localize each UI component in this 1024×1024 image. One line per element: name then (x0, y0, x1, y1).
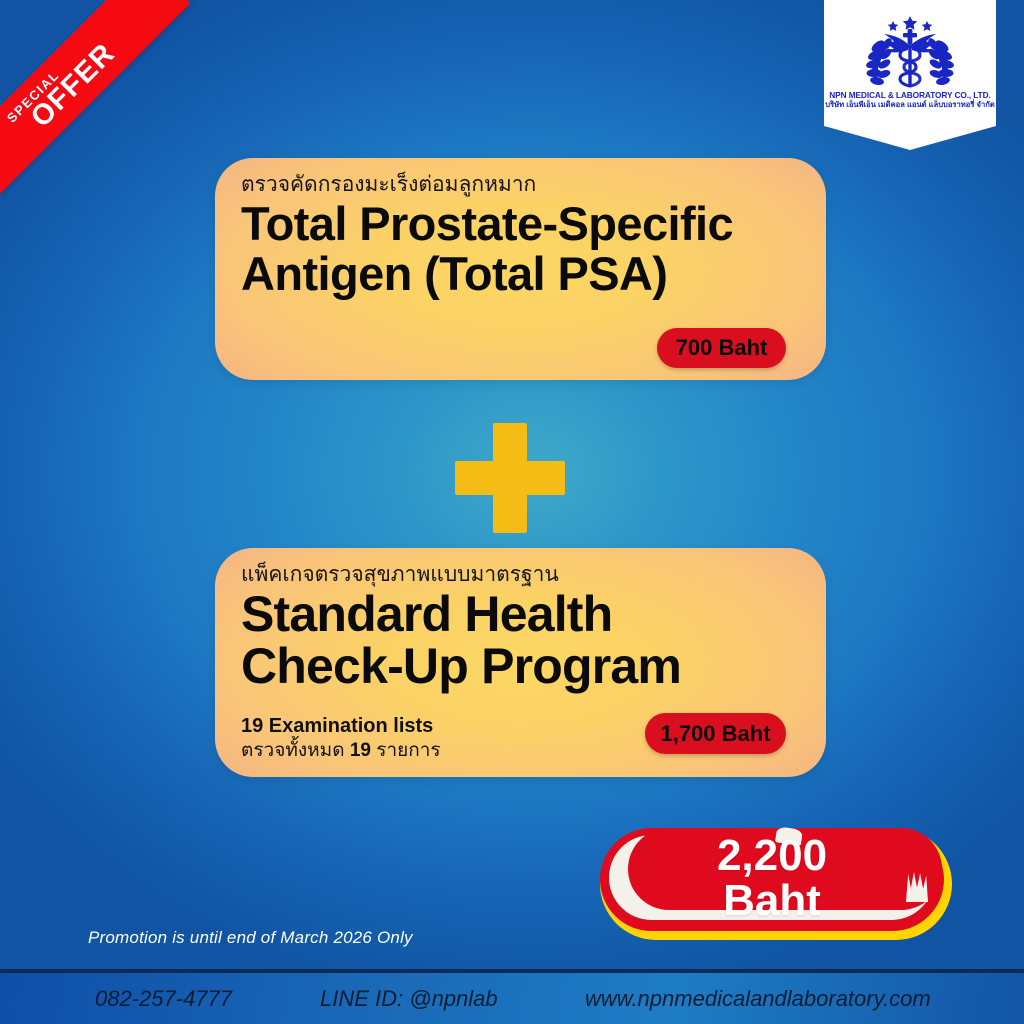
card-title-line1: Standard Health (241, 590, 800, 640)
footer-website[interactable]: www.npnmedicalandlaboratory.com (585, 986, 931, 1012)
promotion-validity-note: Promotion is until end of March 2026 Onl… (88, 928, 413, 948)
exam-count-th-prefix: ตรวจทั้งหมด (241, 740, 350, 761)
footer-line-id[interactable]: LINE ID: @npnlab (320, 986, 498, 1012)
footer-phone[interactable]: 082-257-4777 (95, 986, 232, 1012)
contact-footer: 082-257-4777 LINE ID: @npnlab www.npnmed… (0, 973, 1024, 1024)
logo-company-name-th: บริษัท เอ็นพีเอ็น เมดิคอล แอนด์ แล็บบอรา… (825, 101, 995, 110)
card-title-line2: Check-Up Program (241, 642, 800, 692)
total-price-text: 2,200 Baht (600, 834, 944, 924)
price-badge-psa: 700 Baht (657, 328, 786, 368)
exam-count-en: 19 Examination lists (241, 714, 441, 739)
total-price-currency: Baht (600, 879, 944, 924)
offer-card-health-checkup: แพ็คเกจตรวจสุขภาพแบบมาตรฐาน Standard Hea… (215, 548, 826, 777)
promotion-poster: SPECIAL OFFER (0, 0, 1024, 1024)
exam-count-th-suffix: รายการ (371, 740, 441, 761)
logo-company-name-en: NPN MEDICAL & LABORATORY CO., LTD. (829, 91, 990, 100)
offer-card-psa: ตรวจคัดกรองมะเร็งต่อมลูกหมาก Total Prost… (215, 158, 826, 380)
total-price-amount: 2,200 (600, 834, 944, 879)
company-logo-banner: NPN MEDICAL & LABORATORY CO., LTD. บริษั… (824, 0, 996, 150)
exam-count-block: 19 Examination lists ตรวจทั้งหมด 19 รายก… (241, 714, 441, 763)
card-kicker-th: แพ็คเกจตรวจสุขภาพแบบมาตรฐาน (241, 562, 800, 588)
price-badge-checkup: 1,700 Baht (645, 713, 786, 754)
special-offer-ribbon: SPECIAL OFFER (0, 0, 190, 194)
card-title-line1: Total Prostate-Specific (241, 201, 800, 248)
plus-icon (455, 423, 565, 533)
exam-count-th-number: 19 (350, 740, 371, 761)
total-price-banner: 2,200 Baht (600, 828, 952, 940)
card-kicker-th: ตรวจคัดกรองมะเร็งต่อมลูกหมาก (241, 172, 800, 198)
caduceus-laurel-icon (848, 12, 972, 90)
card-title-line2: Antigen (Total PSA) (241, 251, 800, 298)
exam-count-th: ตรวจทั้งหมด 19 รายการ (241, 739, 441, 763)
